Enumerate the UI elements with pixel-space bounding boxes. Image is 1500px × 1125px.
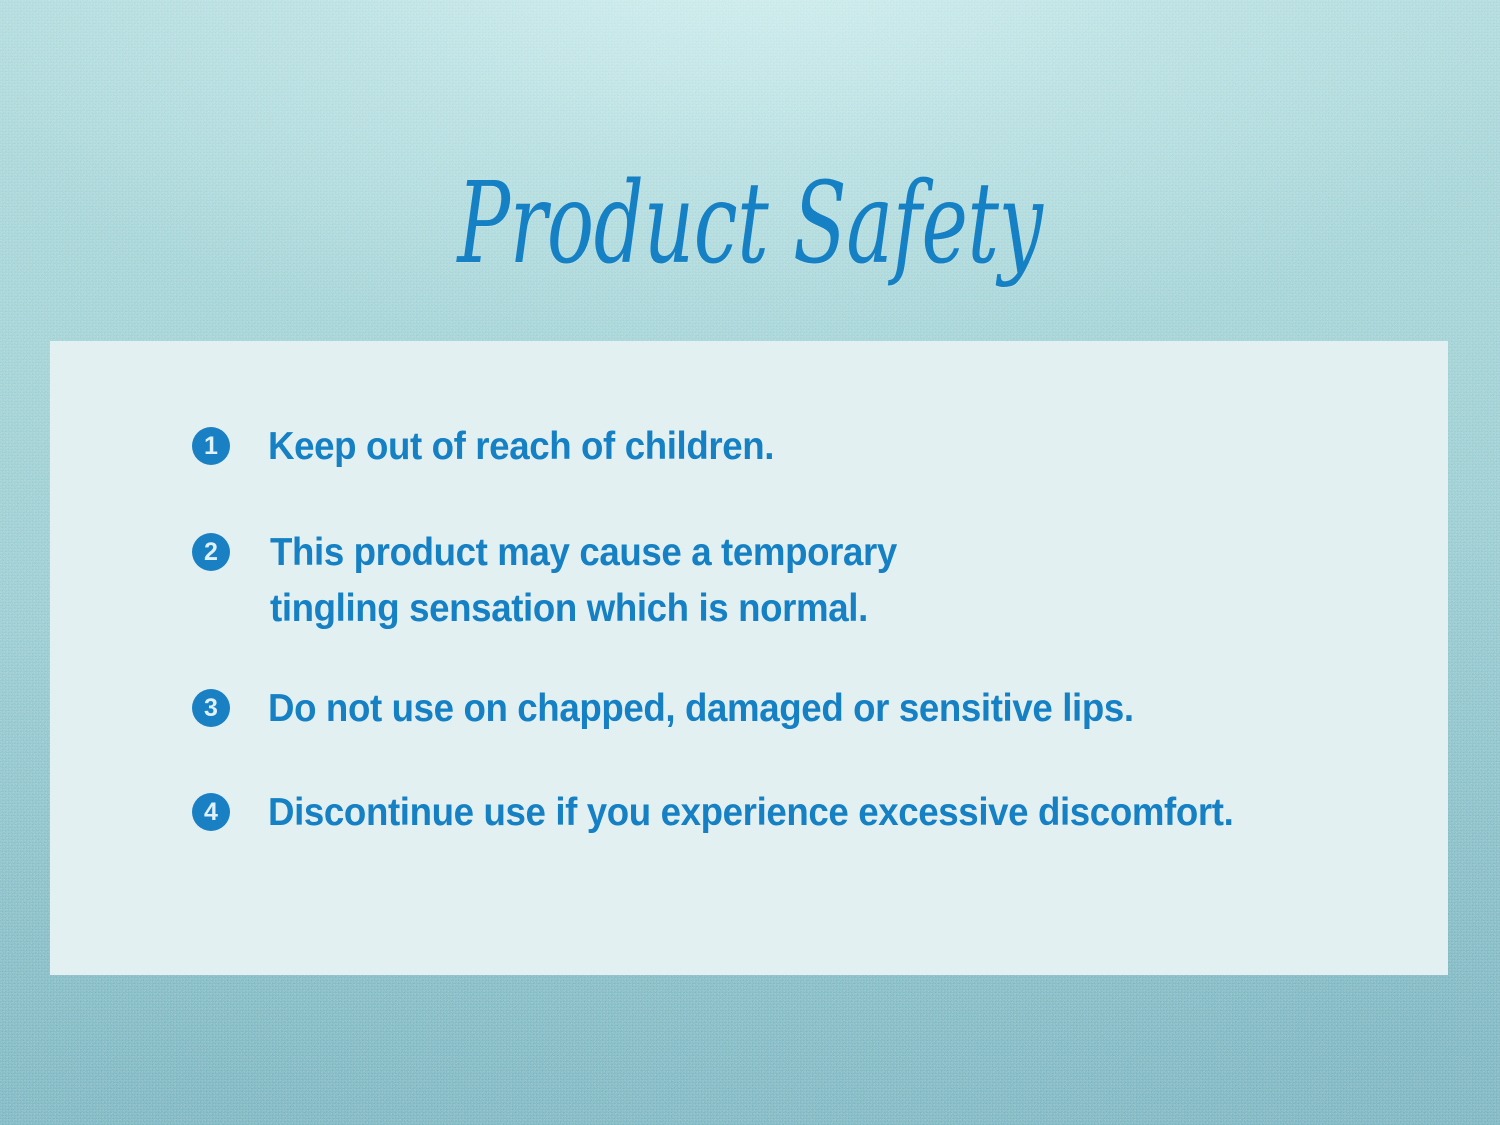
safety-card: 1 Keep out of reach of children. 2 This … (50, 341, 1448, 975)
list-item: 1 Keep out of reach of children. (192, 419, 1428, 475)
list-item-number-badge: 2 (192, 533, 230, 571)
page-title: Product Safety (225, 168, 1275, 280)
list-item-text: Discontinue use if you experience excess… (268, 785, 1233, 841)
list-item: 2 This product may cause a temporary tin… (192, 525, 1428, 637)
list-item-text: Do not use on chapped, damaged or sensit… (268, 681, 1134, 737)
safety-list: 1 Keep out of reach of children. 2 This … (192, 419, 1428, 841)
list-item-text: Keep out of reach of children. (268, 419, 774, 475)
list-item-number-badge: 1 (192, 427, 230, 465)
list-item-number-badge: 3 (192, 689, 230, 727)
list-item-number-badge: 4 (192, 793, 230, 831)
list-item: 4 Discontinue use if you experience exce… (192, 785, 1428, 841)
list-item-text: This product may cause a temporary tingl… (270, 525, 897, 637)
list-item: 3 Do not use on chapped, damaged or sens… (192, 681, 1428, 737)
